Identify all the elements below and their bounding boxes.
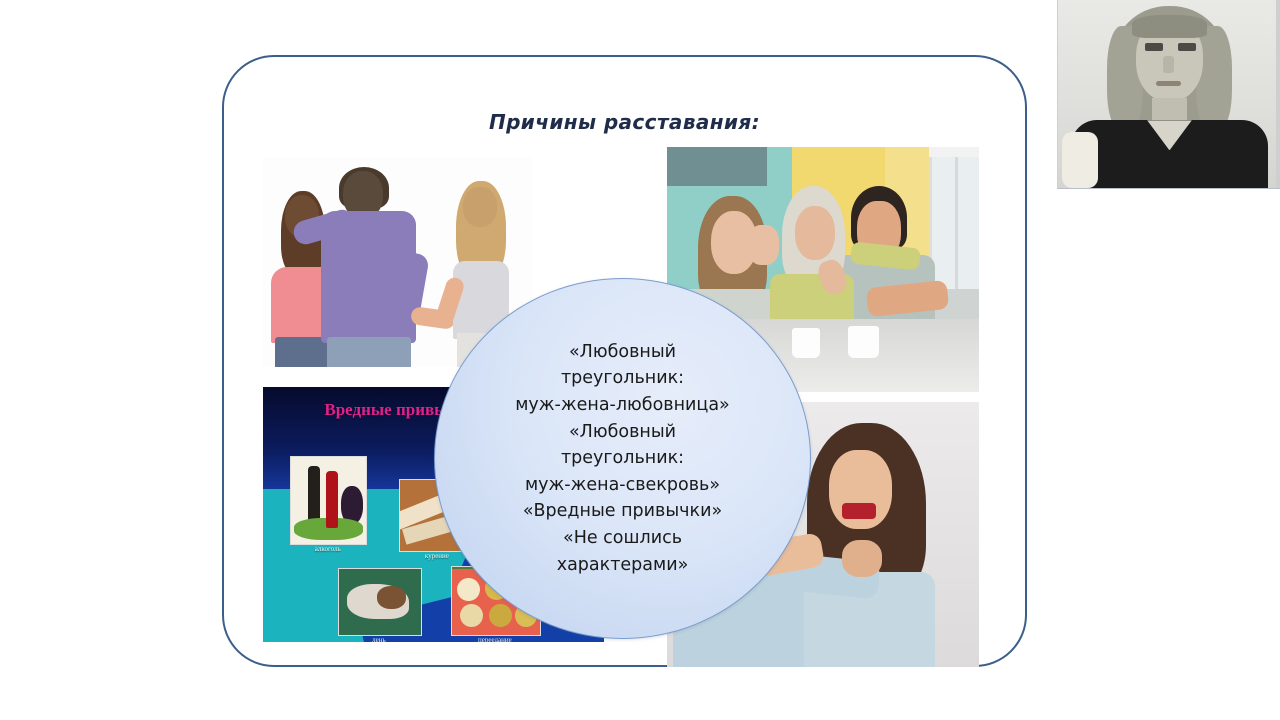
kitchen-hood xyxy=(667,147,767,186)
reason-line: «Не сошлись xyxy=(446,525,799,552)
webcam-person-left-eye xyxy=(1145,43,1163,51)
coffee-cup-right xyxy=(848,326,879,358)
screen-share-stage: Причины расставания: xyxy=(0,0,1280,720)
webcam-right-edge xyxy=(1276,0,1280,188)
webcam-person-sleeve xyxy=(1062,132,1098,188)
poster-item-label: лень xyxy=(338,636,420,642)
webcam-person-nose xyxy=(1163,56,1174,73)
figure-other-woman-head xyxy=(463,187,497,227)
reason-line: муж-жена-любовница» xyxy=(446,392,799,419)
presenter-webcam-tile[interactable] xyxy=(1057,0,1280,189)
webcam-person-mouth xyxy=(1156,81,1181,87)
leaves-shape xyxy=(294,518,363,541)
food-plate xyxy=(489,604,512,627)
food-plate xyxy=(460,604,483,627)
figure-motherinlaw-face xyxy=(795,206,836,260)
reasons-list: «Любовный треугольник: муж-жена-любовниц… xyxy=(446,339,799,578)
poster-item-alcohol: алкоголь xyxy=(290,456,365,543)
figure-woman-mouth xyxy=(842,503,876,519)
kitchen-window xyxy=(929,157,979,294)
reason-line: «Любовный xyxy=(446,419,799,446)
slide-frame: Причины расставания: xyxy=(222,55,1027,667)
webcam-person-hair-right xyxy=(1196,26,1232,131)
laziness-icon xyxy=(338,568,422,636)
reason-line: муж-жена-свекровь» xyxy=(446,472,799,499)
poster-item-label: алкоголь xyxy=(290,545,365,553)
food-plate xyxy=(457,578,480,601)
reason-line: треугольник: xyxy=(446,365,799,392)
reason-line: «Любовный xyxy=(446,339,799,366)
poster-item-label: переедание xyxy=(451,636,540,642)
reason-line: «Вредные привычки» xyxy=(446,498,799,525)
webcam-person-right-eye xyxy=(1178,43,1196,51)
alcohol-icon xyxy=(290,456,367,545)
reason-line: треугольник: xyxy=(446,445,799,472)
figure-man-jeans xyxy=(327,337,411,367)
page-title: Причины расставания: xyxy=(224,110,1025,134)
poster-item-laziness: лень xyxy=(338,568,420,634)
figure-man-hand xyxy=(842,540,883,577)
reasons-callout-ellipse: «Любовный треугольник: муж-жена-любовниц… xyxy=(434,278,811,639)
webcam-person-fringe xyxy=(1132,15,1208,38)
figure-wife-hand xyxy=(748,225,779,264)
reason-line: характерами» xyxy=(446,552,799,579)
